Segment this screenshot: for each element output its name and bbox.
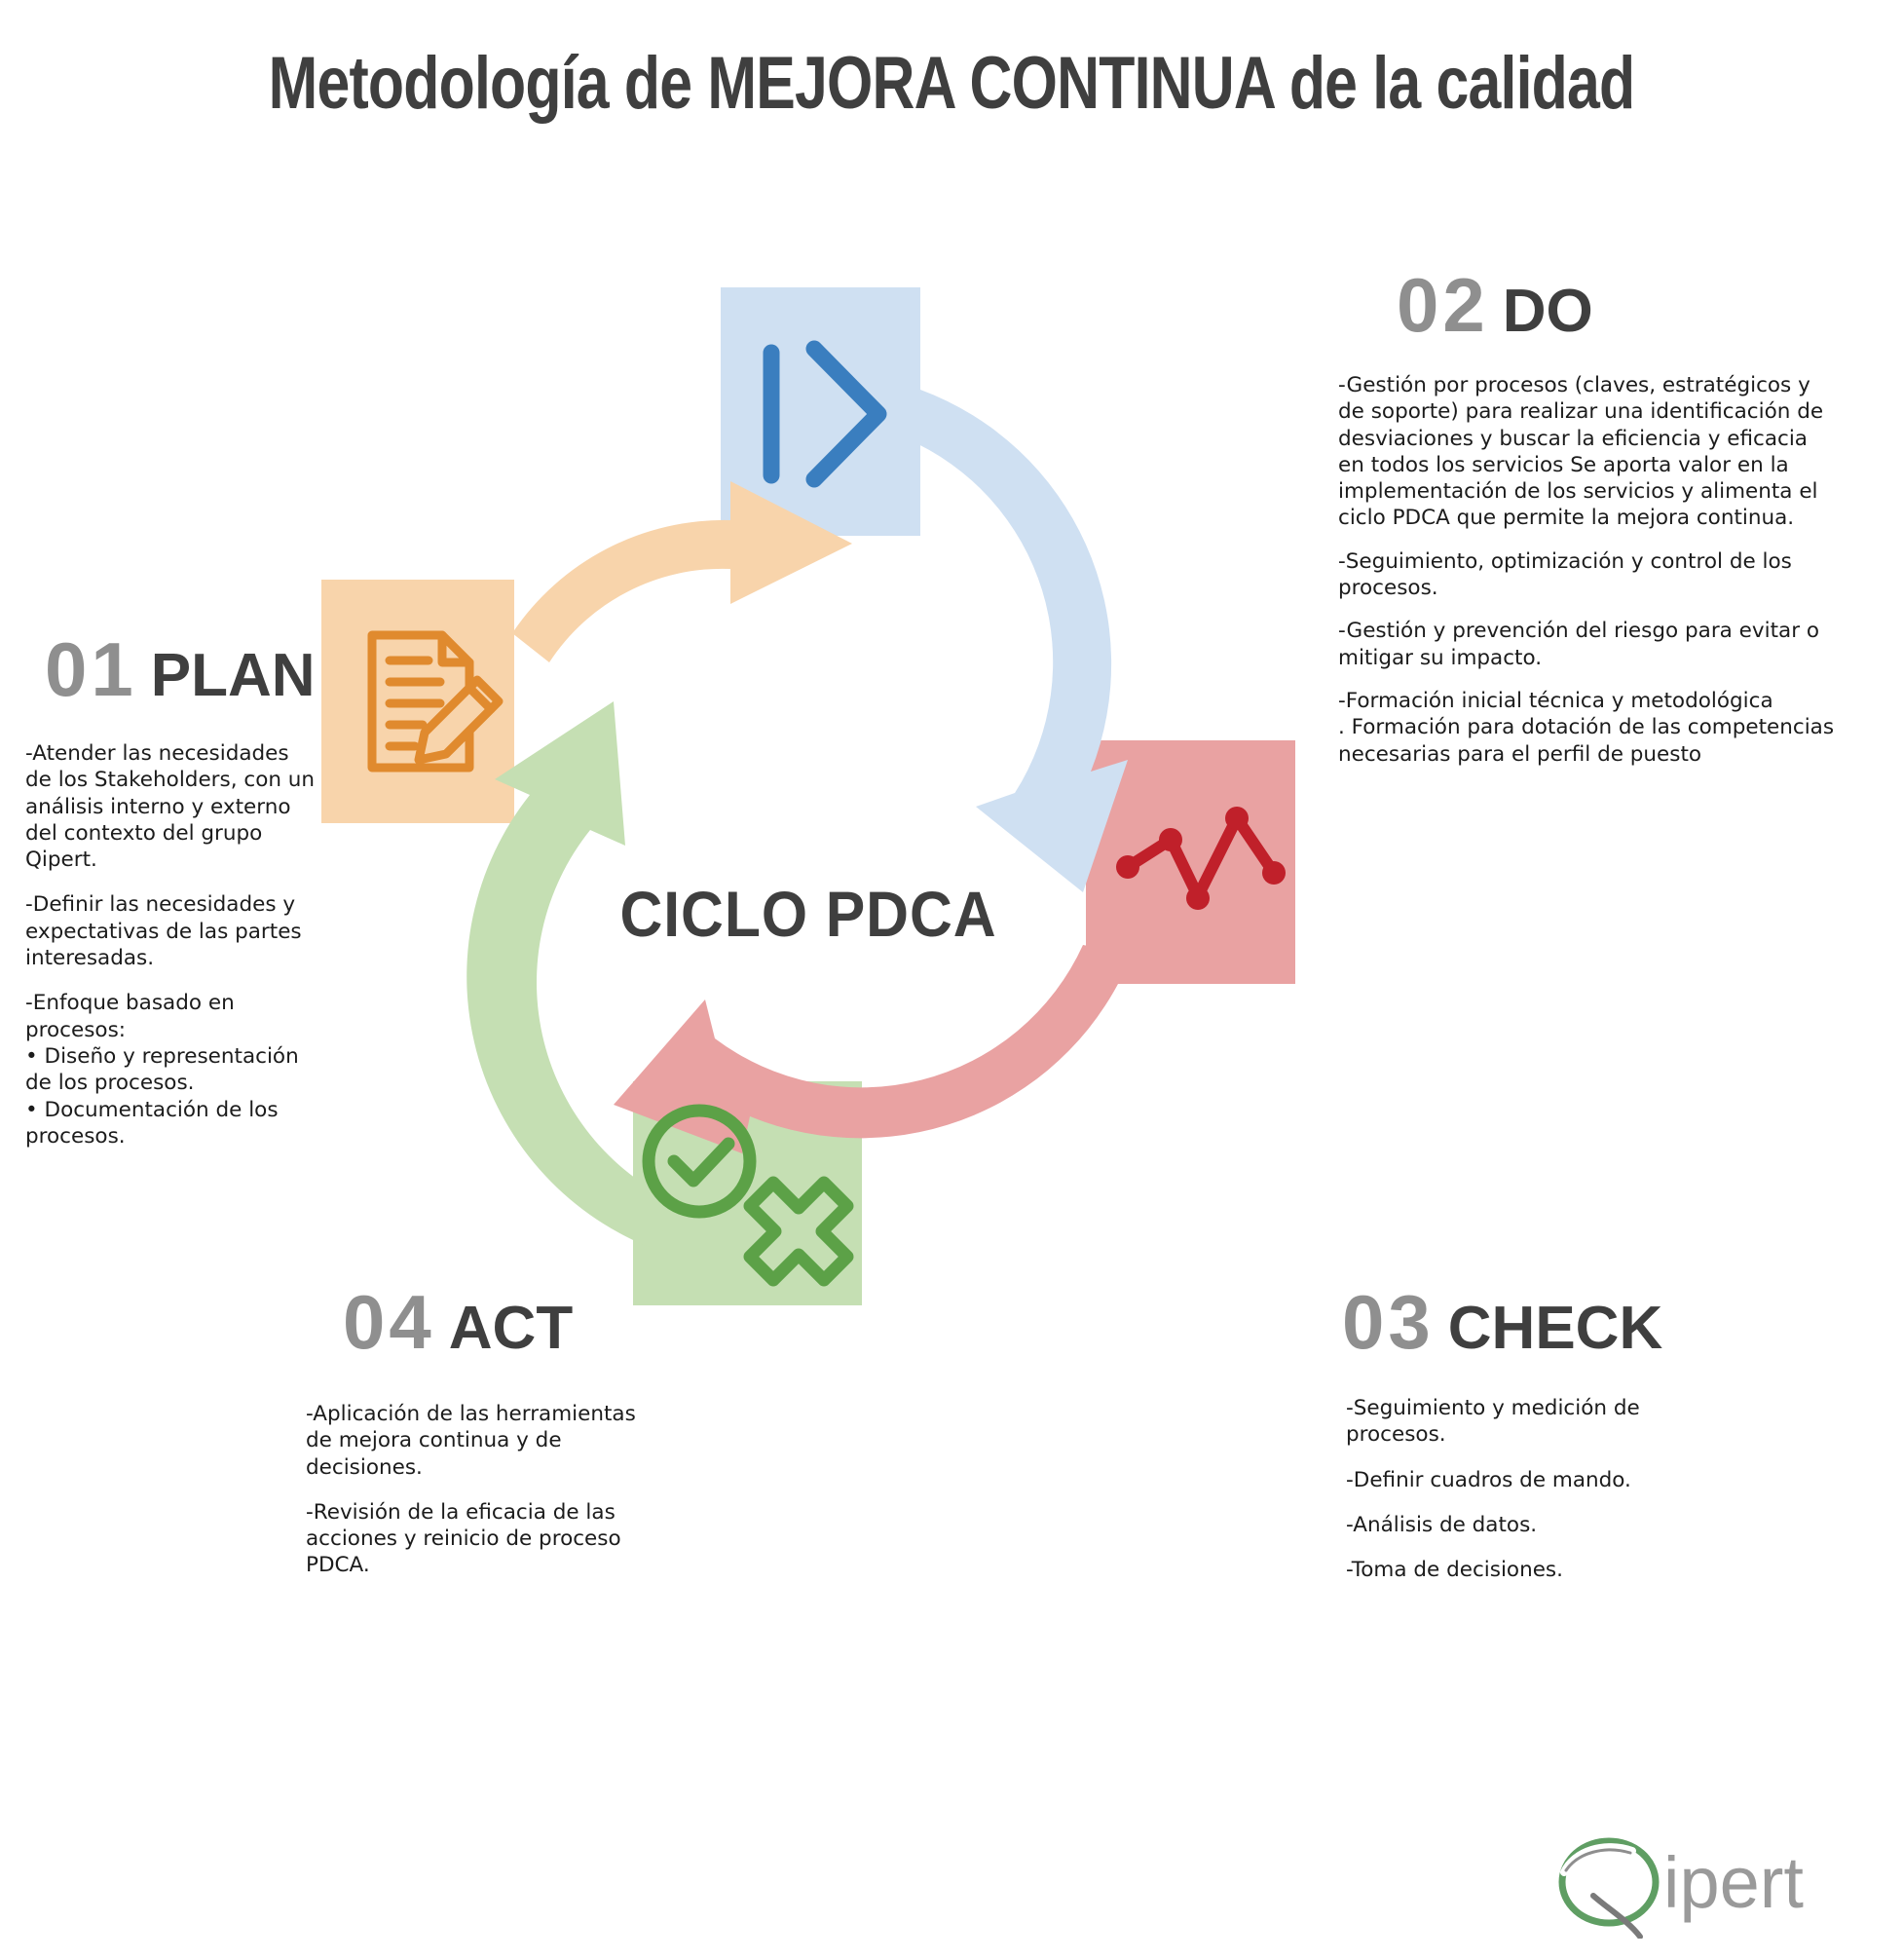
check-bullet-2: -Análisis de datos.: [1346, 1512, 1697, 1538]
act-bullet-1: -Revisión de la eficacia de las acciones…: [306, 1499, 666, 1579]
do-bullet-3: -Formación inicial técnica y metodológic…: [1338, 688, 1835, 768]
do-number: 02: [1397, 262, 1489, 348]
qipert-logo: ipert: [1549, 1831, 1870, 1939]
section-heading-do: 02DO: [1397, 267, 1593, 343]
plan-bullet-0: -Atender las necesidades de los Stakehol…: [25, 740, 317, 873]
arrow-do-to-check: [906, 390, 1128, 892]
section-heading-act: 04ACT: [343, 1284, 573, 1360]
pdca-cycle-diagram: [321, 273, 1295, 1305]
act-body: -Aplicación de las herramientas de mejor…: [306, 1401, 666, 1579]
act-number: 04: [343, 1279, 435, 1365]
plan-word: PLAN: [151, 642, 316, 709]
do-bullet-2: -Gestión y prevención del riesgo para ev…: [1338, 618, 1835, 671]
arrow-check-to-act: [614, 945, 1132, 1153]
check-bullet-1: -Definir cuadros de mando.: [1346, 1467, 1697, 1493]
act-word: ACT: [449, 1295, 573, 1362]
check-bullet-3: -Toma de decisiones.: [1346, 1557, 1697, 1583]
section-heading-check: 03CHECK: [1342, 1284, 1662, 1360]
act-bullet-0: -Aplicación de las herramientas de mejor…: [306, 1401, 666, 1481]
logo-q-mark: [1562, 1841, 1656, 1937]
plan-number: 01: [45, 626, 137, 712]
do-bullet-1: -Seguimiento, optimización y control de …: [1338, 548, 1835, 602]
plan-body: -Atender las necesidades de los Stakehol…: [25, 740, 317, 1150]
logo-wordmark: ipert: [1663, 1842, 1804, 1923]
cycle-center-label: CICLO PDCA: [567, 877, 1051, 951]
infographic-canvas: Metodología de MEJORA CONTINUA de la cal…: [0, 0, 1903, 1960]
plan-bullet-2: -Enfoque basado en procesos: • Diseño y …: [25, 990, 317, 1150]
plan-bullet-1: -Definir las necesidades y expectativas …: [25, 891, 317, 971]
check-word: CHECK: [1448, 1295, 1662, 1362]
do-bullet-0: -Gestión por procesos (claves, estratégi…: [1338, 372, 1835, 532]
check-number: 03: [1342, 1279, 1435, 1365]
section-heading-plan: 01PLAN: [45, 631, 316, 707]
check-bullet-0: -Seguimiento y medición de procesos.: [1346, 1395, 1697, 1449]
page-title: Metodología de MEJORA CONTINUA de la cal…: [190, 41, 1712, 126]
check-body: -Seguimiento y medición de procesos. -De…: [1346, 1395, 1697, 1583]
do-word: DO: [1503, 278, 1593, 345]
do-body: -Gestión por procesos (claves, estratégi…: [1338, 372, 1835, 784]
